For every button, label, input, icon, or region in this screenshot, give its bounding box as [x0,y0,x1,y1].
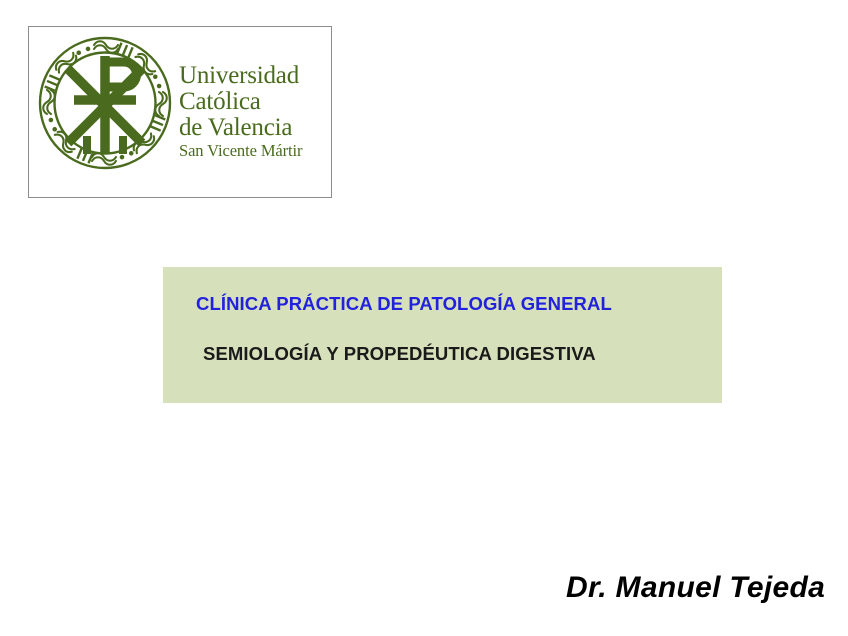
author-name: Dr. Manuel Tejeda [566,571,825,605]
logo-contents: Universidad Católica de Valencia San Vic… [29,27,331,197]
university-logo-box: Universidad Católica de Valencia San Vic… [28,26,332,198]
title-panel: CLÍNICA PRÁCTICA DE PATOLOGÍA GENERAL SE… [163,267,722,403]
chi-rho-emblem-icon [38,36,172,170]
wordmark-line-2: Católica [179,89,329,114]
wordmark-subtitle: San Vicente Mártir [179,143,329,160]
wordmark-line-3: de Valencia [179,115,329,140]
slide-title-secondary: SEMIOLOGÍA Y PROPEDÉUTICA DIGESTIVA [203,343,596,365]
university-wordmark: Universidad Católica de Valencia San Vic… [179,63,329,160]
wordmark-line-1: Universidad [179,63,329,88]
slide-title-primary: CLÍNICA PRÁCTICA DE PATOLOGÍA GENERAL [196,293,612,315]
